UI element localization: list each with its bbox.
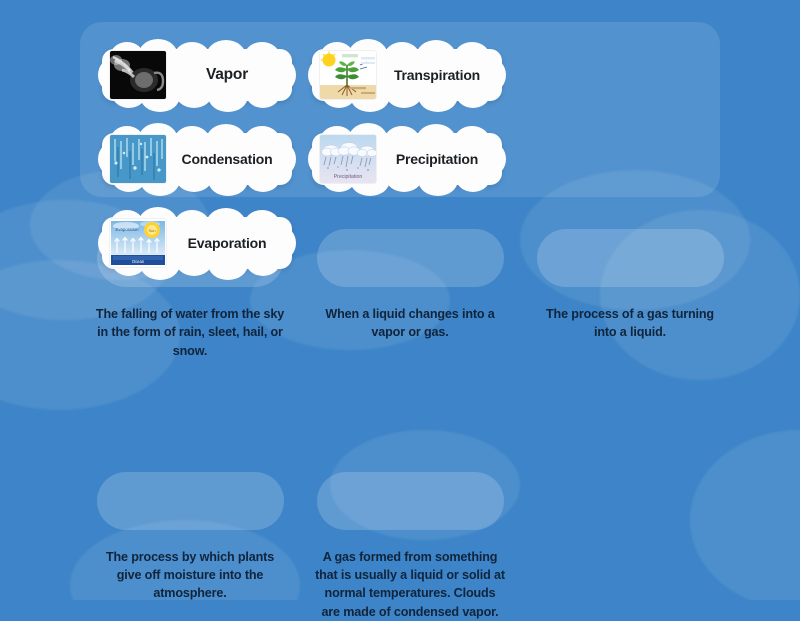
answer-definition: The falling of water from the sky in the… — [95, 305, 285, 360]
dropzone-2[interactable] — [317, 229, 504, 287]
answer-cell-transpiration: The process by which plants give off moi… — [85, 448, 295, 621]
answer-definition: The process by which plants give off moi… — [95, 548, 285, 603]
word-tile-transpiration[interactable]: Transpiration — [312, 42, 502, 108]
answer-definition: The process of a gas turning into a liqu… — [535, 305, 725, 342]
word-tile-label: Precipitation — [376, 151, 502, 167]
dropzone-3[interactable] — [537, 229, 724, 287]
precipitation-thumb-caption: Precipitation — [334, 174, 363, 180]
rain-clouds-diagram-icon: Precipitation — [320, 135, 376, 183]
answer-definition: When a liquid changes into a vapor or ga… — [315, 305, 505, 342]
answer-definition: A gas formed from something that is usua… — [315, 548, 505, 621]
evaporation-ocean-sun-diagram-icon: Sun Evaporation — [110, 219, 166, 267]
answer-cell-condensation: The process of a gas turning into a liqu… — [525, 205, 735, 360]
dropzone-5[interactable] — [317, 472, 504, 530]
plant-transpiration-diagram-icon — [320, 51, 376, 99]
word-tile-label: Evaporation — [166, 235, 292, 251]
steaming-kettle-photo-icon — [110, 51, 166, 99]
condensation-droplets-photo-icon — [110, 135, 166, 183]
evaporation-ocean-caption: Ocean — [132, 259, 145, 264]
answer-row-2: The process by which plants give off moi… — [80, 448, 740, 621]
evaporation-sun-caption: Sun — [148, 228, 155, 233]
word-tile-label: Vapor — [166, 66, 292, 84]
word-tile-grid: Vapor — [80, 22, 720, 197]
answer-cell-evaporation: When a liquid changes into a vapor or ga… — [305, 205, 515, 360]
word-tile-label: Transpiration — [376, 67, 502, 83]
word-tile-condensation[interactable]: Condensation — [102, 126, 292, 192]
word-tile-vapor[interactable]: Vapor — [102, 42, 292, 108]
answer-cell-empty — [525, 448, 735, 621]
word-tile-precipitation[interactable]: Precipitation Precipitation — [312, 126, 502, 192]
word-tile-label: Condensation — [166, 151, 292, 167]
dropzone-4[interactable] — [97, 472, 284, 530]
word-tile-panel: Vapor — [80, 22, 720, 197]
evaporation-thumb-caption: Evaporation — [116, 227, 140, 232]
answer-cell-vapor: A gas formed from something that is usua… — [305, 448, 515, 621]
word-tile-evaporation[interactable]: Sun Evaporation — [102, 210, 292, 276]
